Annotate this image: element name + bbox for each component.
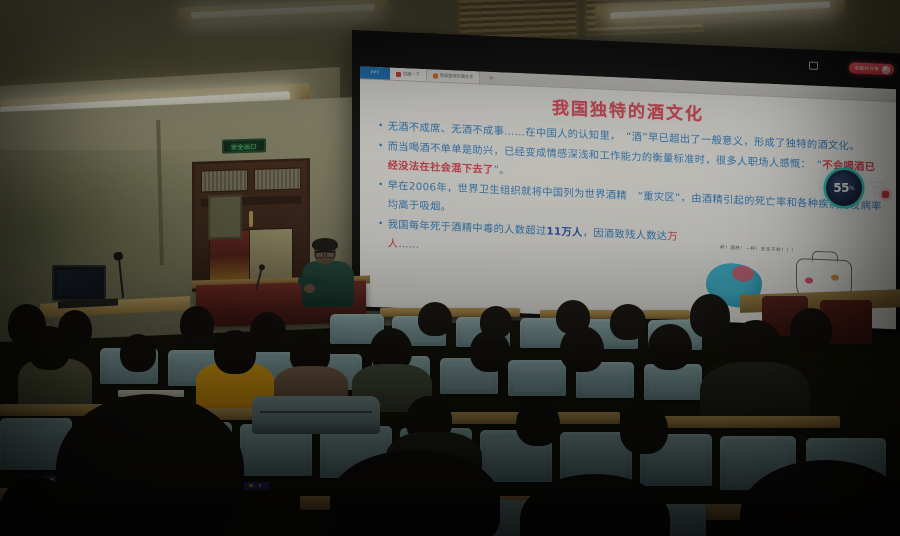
foreground-head-left: [56, 394, 244, 536]
favicon: [396, 71, 401, 76]
fish-icon: [831, 274, 839, 280]
progress-unit: %: [849, 185, 855, 192]
browser-window: PPT 百度一下 我国独特的酒文化 + 我国独特的酒文化: [360, 66, 896, 329]
lecture-hall-scene: 安全出口 收藏并分享 PPT 百度一下: [0, 0, 900, 536]
backpack: [252, 396, 380, 434]
browser-logo-label: PPT: [370, 70, 379, 75]
audience-head: [418, 302, 452, 336]
browser-tab-label: 百度一下: [403, 71, 420, 78]
progress-dial[interactable]: 55%: [826, 170, 862, 206]
bullet-marker: •: [378, 176, 384, 214]
lecturer-hair: [312, 238, 338, 251]
audience-head: [690, 294, 730, 338]
monitor-screen: [57, 270, 101, 296]
browser-tab-label: 我国独特的酒文化: [440, 73, 474, 80]
audience-head: [28, 326, 70, 370]
backpack-zipper: [260, 411, 373, 413]
bullet-marker: •: [378, 137, 384, 175]
audience-head: [610, 304, 646, 340]
wifi-icon[interactable]: [864, 177, 888, 199]
audience-head: [560, 326, 604, 372]
screen-share-widget[interactable]: 55%: [826, 170, 888, 206]
audience-head: [620, 404, 668, 454]
audience-head: [516, 400, 560, 446]
audience-head: [214, 330, 256, 374]
window-restore-icon[interactable]: [809, 62, 818, 70]
audience-head: [180, 306, 214, 342]
audience-head: [250, 312, 286, 350]
favicon: [433, 73, 438, 78]
lecturer-glasses: [315, 251, 335, 255]
progress-value: 55: [833, 181, 849, 195]
seat: [508, 360, 566, 396]
lecturer: [300, 240, 358, 306]
desk-row: [640, 416, 840, 428]
avatar: [882, 65, 890, 73]
new-tab-icon: +: [488, 74, 494, 82]
audience-head: [120, 334, 156, 372]
browser-tab-0[interactable]: 百度一下: [390, 68, 427, 82]
audience-head: [648, 324, 692, 370]
browser-tab-1[interactable]: 我国独特的酒文化: [427, 69, 481, 83]
projection-screen: 收藏并分享 PPT 百度一下 我国独特的酒文化: [352, 38, 900, 333]
audience-head: [470, 330, 510, 372]
bullet-marker: •: [378, 117, 384, 136]
browser-logo: PPT: [360, 66, 390, 79]
recording-dot: [882, 191, 889, 198]
bullet-marker: •: [378, 215, 384, 253]
audience-seating: [0, 300, 900, 536]
share-badge[interactable]: 收藏并分享: [849, 62, 894, 75]
new-tab-button[interactable]: +: [480, 71, 502, 84]
screenshot-root: 安全出口 收藏并分享 PPT 百度一下: [0, 0, 900, 536]
audience-head: [790, 308, 832, 352]
lecturer-hand: [304, 284, 315, 293]
wifi-dot: [873, 192, 877, 196]
share-badge-label: 收藏并分享: [855, 65, 879, 72]
control-desk-monitor: [52, 265, 106, 301]
fish-icon: [805, 277, 813, 283]
